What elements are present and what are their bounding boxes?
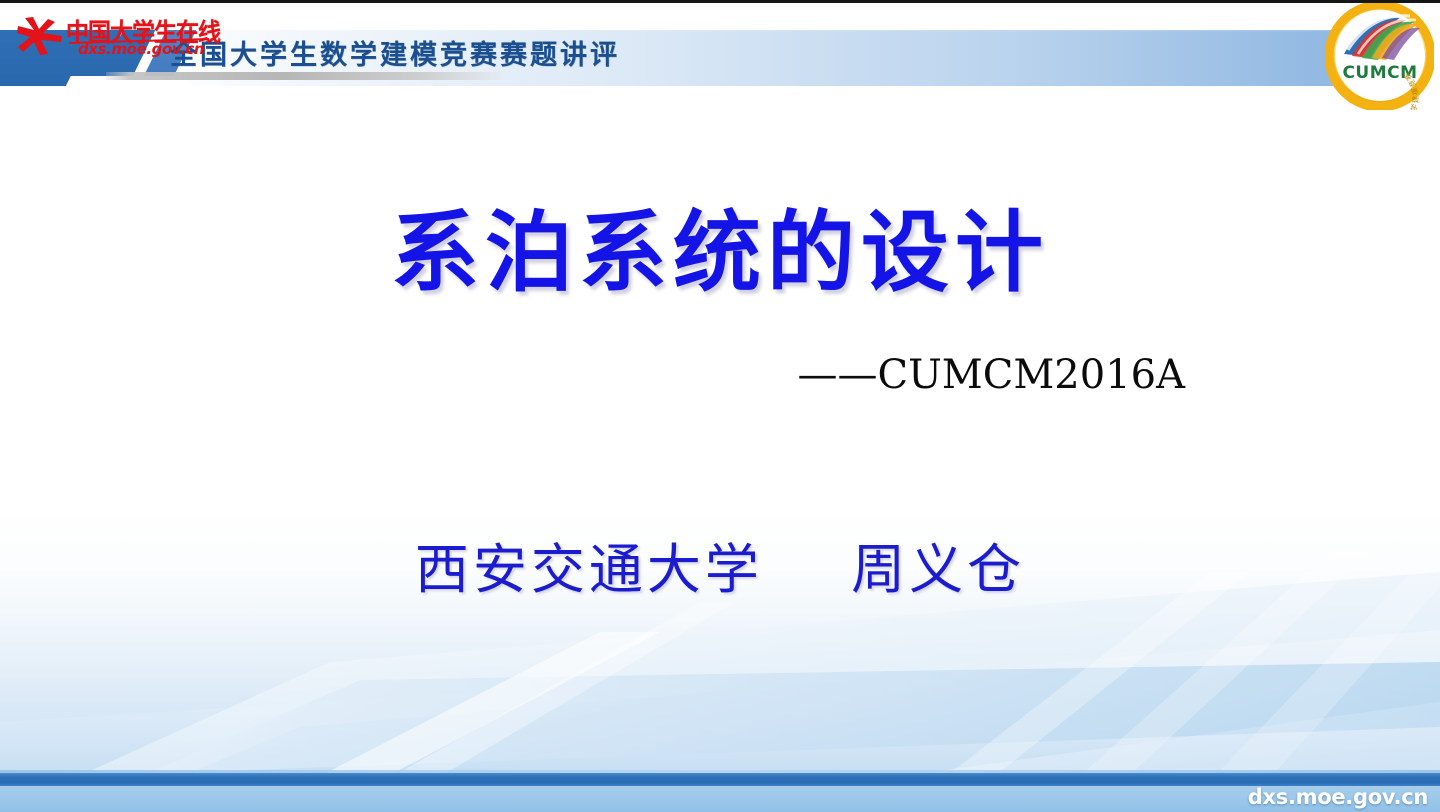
author-name: 周义仓 bbox=[851, 538, 1025, 601]
page-subtitle: ——CUMCM2016A bbox=[0, 352, 1185, 398]
slide-background bbox=[0, 0, 1440, 812]
cumcm-badge-logo: CUMCM 中国大学生数学建模竞赛 bbox=[1326, 2, 1434, 110]
player-top-edge bbox=[0, 0, 1440, 3]
dxs-logo[interactable]: 中国大学生在线 dxs.moe.gov.cn bbox=[14, 10, 244, 64]
affiliation-text: 西安交通大学 bbox=[415, 538, 763, 601]
header-divider-rule bbox=[106, 72, 502, 80]
footer-watermark: dxs.moe.gov.cn bbox=[1248, 785, 1428, 809]
author-line: 西安交通大学 周义仓 bbox=[0, 525, 1440, 604]
dxs-logo-url: dxs.moe.gov.cn bbox=[78, 40, 204, 58]
star-icon bbox=[14, 16, 66, 56]
footer-blue-bar bbox=[0, 773, 1440, 786]
footer-underbar bbox=[0, 786, 1440, 812]
page-title: 系泊系统的设计 bbox=[0, 205, 1440, 302]
presentation-slide: 中国大学生在线 dxs.moe.gov.cn 全国大学生数学建模竞赛赛题讲评 bbox=[0, 0, 1440, 812]
